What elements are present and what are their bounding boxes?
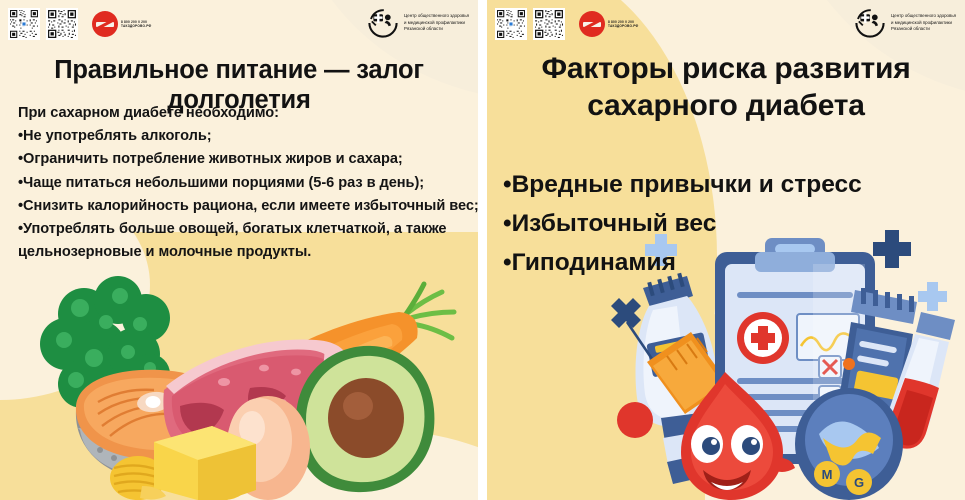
right-title-line-1: Факторы риска развития — [487, 50, 965, 87]
risk-factor-2: •Избыточный вес — [503, 204, 953, 243]
risk-factors-list: •Вредные привычки и стресс •Избыточный в… — [503, 165, 953, 282]
poster-header-left: 8 800 200 0 200 ТАКЗДОРОВО.РФ Центр обще… — [0, 0, 478, 48]
glucometer-shape: M G — [795, 388, 903, 500]
left-poster-body: При сахарном диабете необходимо: •Не упо… — [18, 102, 468, 264]
no-smoking-text: 8 800 200 0 200 ТАКЗДОРОВО.РФ — [121, 20, 151, 29]
risk-factor-3: •Гиподинамия — [503, 243, 953, 282]
no-smoking-icon — [92, 11, 118, 37]
body-bullet-1: •Не употреблять алкоголь; — [18, 125, 468, 148]
health-center-logo-icon — [854, 7, 886, 39]
hotline-site: ТАКЗДОРОВО.РФ — [121, 24, 151, 28]
right-title-line-2: сахарного диабета — [487, 87, 965, 124]
health-center-logo-icon — [367, 7, 399, 39]
body-intro: При сахарном диабете необходимо: — [18, 102, 468, 125]
healthy-food-illustration — [14, 262, 469, 500]
organization-name-right: Центр общественного здоровья и медицинск… — [891, 13, 956, 32]
organization-logo-left: Центр общественного здоровья и медицинск… — [367, 7, 469, 39]
hotline-site: ТАКЗДОРОВО.РФ — [608, 24, 638, 28]
qr-code-1-icon[interactable] — [8, 8, 40, 40]
body-bullet-3: •Чаще питаться небольшими порциями (5-6 … — [18, 172, 468, 195]
org-line-3: Рязанской области — [404, 26, 469, 32]
svg-text:G: G — [854, 475, 864, 490]
qr-code-group — [8, 8, 78, 40]
no-smoking-icon — [579, 11, 605, 37]
no-smoking-badge[interactable]: 8 800 200 0 200 ТАКЗДОРОВО.РФ — [92, 11, 151, 37]
panel-divider — [478, 0, 487, 500]
avocado-half-shape — [296, 346, 434, 492]
qr-code-group-right — [495, 8, 565, 40]
right-poster-title: Факторы риска развития сахарного диабета — [487, 50, 965, 124]
poster-right-panel: 8 800 200 0 200 ТАКЗДОРОВО.РФ Центр обще… — [487, 0, 965, 500]
organization-logo-right: Центр общественного здоровья и медицинск… — [854, 7, 956, 39]
no-smoking-text: 8 800 200 0 200 ТАКЗДОРОВО.РФ — [608, 20, 638, 29]
qr-code-1-icon[interactable] — [495, 8, 527, 40]
body-bullet-2: •Ограничить потребление животных жиров и… — [18, 148, 468, 171]
svg-text:M: M — [822, 467, 833, 482]
poster-left-panel: 8 800 200 0 200 ТАКЗДОРОВО.РФ Центр обще… — [0, 0, 478, 500]
risk-factor-1: •Вредные привычки и стресс — [503, 165, 953, 204]
body-bullet-4: •Снизить калорийность рациона, если имее… — [18, 195, 468, 218]
organization-name-left: Центр общественного здоровья и медицинск… — [404, 13, 469, 32]
qr-code-2-icon[interactable] — [533, 8, 565, 40]
qr-code-2-icon[interactable] — [46, 8, 78, 40]
body-bullet-5: •Употреблять больше овощей, богатых клет… — [18, 218, 468, 264]
org-line-3: Рязанской области — [891, 26, 956, 32]
poster-pair: 8 800 200 0 200 ТАКЗДОРОВО.РФ Центр обще… — [0, 0, 965, 500]
no-smoking-badge[interactable]: 8 800 200 0 200 ТАКЗДОРОВО.РФ — [579, 11, 638, 37]
poster-header-right: 8 800 200 0 200 ТАКЗДОРОВО.РФ Центр обще… — [487, 0, 965, 48]
